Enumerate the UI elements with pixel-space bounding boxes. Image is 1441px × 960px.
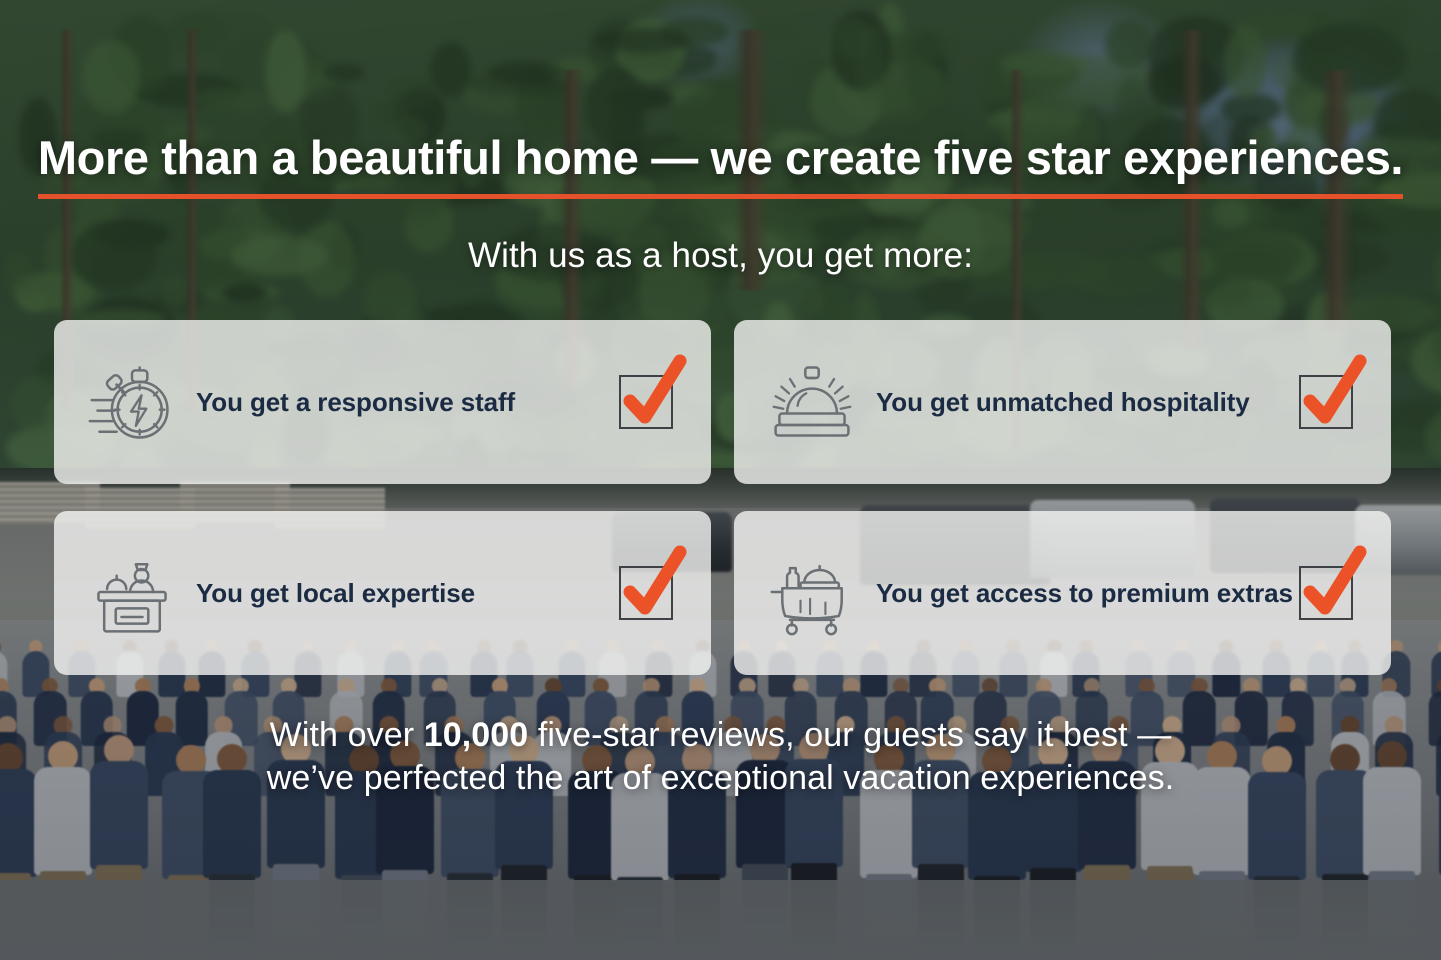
reception-desk-icon bbox=[84, 545, 180, 641]
benefit-label: You get local expertise bbox=[180, 578, 619, 609]
subheading: With us as a host, you get more: bbox=[0, 236, 1441, 276]
checkbox-responsive-staff[interactable] bbox=[619, 375, 673, 429]
benefits-grid: You get a responsive staff bbox=[54, 320, 1391, 675]
checkmark-icon bbox=[1296, 546, 1370, 626]
benefit-card-premium-extras[interactable]: You get access to premium extras bbox=[734, 511, 1391, 675]
reviews-line-1: With over 10,000 five-star reviews, our … bbox=[0, 714, 1441, 757]
stopwatch-speed-icon bbox=[84, 354, 180, 450]
checkmark-icon bbox=[616, 546, 690, 626]
reviews-line-2: we’ve perfected the art of exceptional v… bbox=[0, 757, 1441, 800]
page-title: More than a beautiful home — we create f… bbox=[38, 132, 1403, 199]
reviews-prefix: With over bbox=[270, 716, 424, 754]
checkmark-icon bbox=[1296, 355, 1370, 435]
hero-section: More than a beautiful home — we create f… bbox=[0, 0, 1441, 960]
reviews-count: 10,000 bbox=[424, 716, 529, 754]
checkbox-local-expertise[interactable] bbox=[619, 566, 673, 620]
benefit-card-local-expertise[interactable]: You get local expertise bbox=[54, 511, 711, 675]
room-service-cart-icon bbox=[764, 545, 860, 641]
checkmark-icon bbox=[616, 355, 690, 435]
checkbox-unmatched-hospitality[interactable] bbox=[1299, 375, 1353, 429]
benefit-card-unmatched-hospitality[interactable]: You get unmatched hospitality bbox=[734, 320, 1391, 484]
checkbox-premium-extras[interactable] bbox=[1299, 566, 1353, 620]
service-bell-icon bbox=[764, 354, 860, 450]
reviews-statement: With over 10,000 five-star reviews, our … bbox=[0, 714, 1441, 799]
benefit-label: You get a responsive staff bbox=[180, 387, 619, 418]
reviews-suffix: five-star reviews, our guests say it bes… bbox=[528, 716, 1171, 754]
benefit-label: You get access to premium extras bbox=[860, 578, 1299, 609]
benefit-label: You get unmatched hospitality bbox=[860, 387, 1299, 418]
headline-container: More than a beautiful home — we create f… bbox=[0, 132, 1441, 199]
benefit-card-responsive-staff[interactable]: You get a responsive staff bbox=[54, 320, 711, 484]
